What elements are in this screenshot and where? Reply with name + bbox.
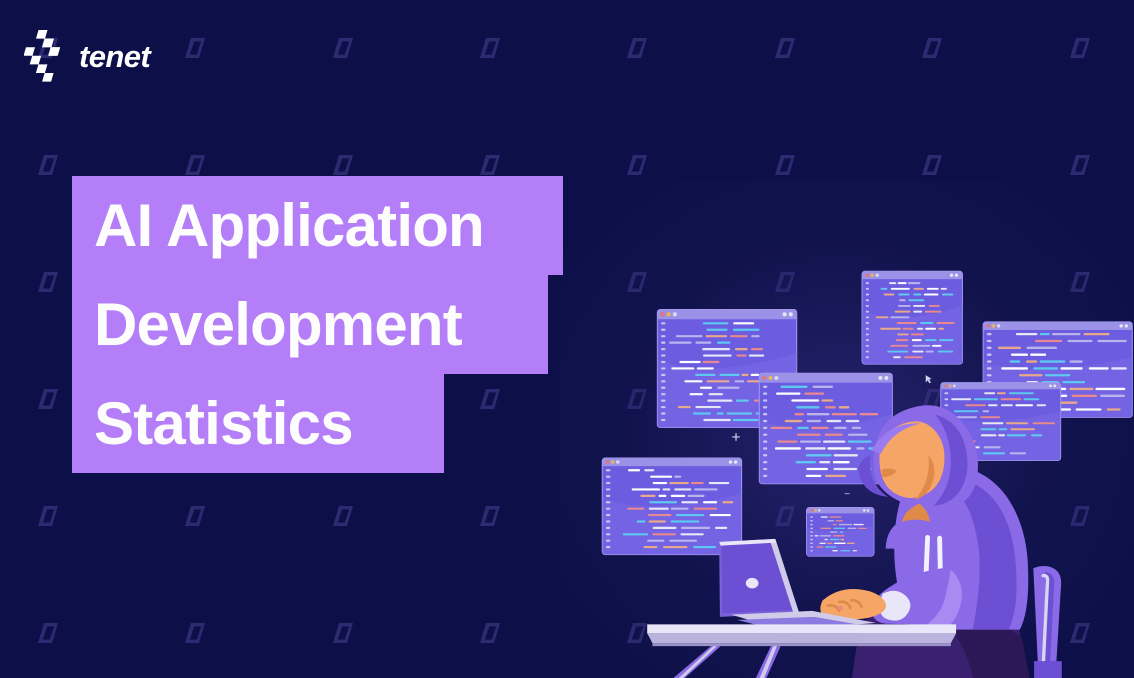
code-token <box>929 305 940 307</box>
code-token <box>1001 398 1022 400</box>
code-token <box>811 427 828 429</box>
code-token <box>825 434 843 436</box>
window-control-dot <box>768 376 772 380</box>
code-token <box>998 347 1021 349</box>
code-token <box>770 427 792 429</box>
code-token <box>684 380 702 382</box>
code-token <box>1016 333 1038 335</box>
pattern-diamond <box>38 506 58 526</box>
code-token <box>700 387 712 389</box>
window-control-dot <box>789 312 793 316</box>
code-token <box>920 322 933 324</box>
code-token <box>1052 333 1081 335</box>
code-gutter-line <box>810 520 813 521</box>
code-gutter-line <box>606 514 610 516</box>
code-token <box>671 520 700 522</box>
code-gutter-line <box>810 539 813 540</box>
window-control-dot <box>734 460 737 463</box>
pattern-diamond <box>922 155 942 175</box>
code-token <box>830 539 839 540</box>
code-token <box>1024 398 1040 400</box>
code-token <box>840 539 844 540</box>
pattern-diamond <box>480 623 500 643</box>
code-token <box>954 410 979 412</box>
window-control-dot <box>945 385 948 388</box>
window-titlebar <box>941 383 1061 390</box>
code-token <box>924 294 939 296</box>
code-gutter-line <box>810 516 813 517</box>
pattern-diamond <box>185 155 205 175</box>
window-control-dot <box>863 509 866 512</box>
code-token <box>649 508 669 510</box>
code-token <box>804 392 824 394</box>
code-gutter-line <box>763 392 767 394</box>
code-gutter-line <box>944 392 948 394</box>
code-token <box>853 524 863 525</box>
code-token <box>981 434 997 436</box>
code-token <box>898 294 909 296</box>
code-gutter-line <box>987 354 992 356</box>
code-token <box>702 348 730 350</box>
code-token <box>709 482 730 484</box>
code-token <box>834 543 846 544</box>
code-gutter-line <box>810 550 813 551</box>
code-gutter-line <box>763 461 767 463</box>
code-gutter-line <box>987 340 992 342</box>
code-token <box>807 420 822 422</box>
window-control-dot <box>884 376 888 380</box>
window-titlebar <box>602 458 741 466</box>
code-token <box>694 508 717 510</box>
code-token <box>671 495 686 497</box>
code-token <box>796 461 817 463</box>
code-token <box>927 288 939 290</box>
code-token <box>648 514 671 516</box>
code-token <box>852 427 861 429</box>
code-token <box>819 543 825 544</box>
code-token <box>733 322 754 324</box>
code-token <box>941 288 947 290</box>
code-token <box>889 282 896 284</box>
code-token <box>932 345 941 347</box>
window-titlebar <box>657 309 796 319</box>
code-token <box>819 461 830 463</box>
code-token <box>1011 354 1028 356</box>
code-token <box>780 386 807 388</box>
code-gutter-line <box>763 447 767 449</box>
code-token <box>925 351 933 353</box>
code-token <box>860 413 879 415</box>
code-token <box>846 420 860 422</box>
code-token <box>858 528 867 529</box>
window-control-dot <box>616 460 619 463</box>
code-token <box>1033 422 1055 424</box>
window-control-dot <box>783 312 787 316</box>
code-token <box>706 329 727 331</box>
code-token <box>649 520 666 522</box>
code-gutter-line <box>763 454 767 456</box>
code-token <box>1007 434 1026 436</box>
code-token <box>1111 367 1127 369</box>
code-token <box>730 335 748 337</box>
code-gutter-line <box>866 328 869 330</box>
code-token <box>836 520 843 521</box>
code-token <box>1031 434 1042 436</box>
headline-line-1: AI Application <box>72 176 563 275</box>
office-chair <box>1033 566 1061 678</box>
pattern-diamond <box>38 272 58 292</box>
code-token <box>988 404 998 406</box>
code-token <box>1006 422 1028 424</box>
code-gutter-line <box>866 294 869 296</box>
code-gutter-line <box>606 476 610 478</box>
code-token <box>706 380 729 382</box>
code-gutter-line <box>866 282 869 284</box>
code-gutter-line <box>944 404 948 406</box>
plus-marker <box>733 434 740 441</box>
code-token <box>663 546 687 548</box>
code-gutter-line <box>810 524 813 525</box>
code-token <box>1010 428 1034 430</box>
code-token <box>722 501 733 503</box>
code-gutter-line <box>606 495 610 497</box>
code-token <box>805 447 826 449</box>
code-gutter-line <box>661 348 665 350</box>
code-gutter-line <box>661 335 665 337</box>
code-token <box>938 351 954 353</box>
code-token <box>913 294 921 296</box>
code-token <box>942 294 953 296</box>
code-token <box>833 535 844 536</box>
code-token <box>902 328 913 330</box>
code-token <box>936 322 954 324</box>
code-token <box>695 374 716 376</box>
code-token <box>727 412 752 414</box>
code-token <box>1019 374 1042 376</box>
code-token <box>925 339 936 341</box>
code-token <box>826 420 841 422</box>
code-token <box>703 419 731 421</box>
code-token <box>984 392 995 394</box>
code-gutter-line <box>661 367 665 369</box>
pattern-diamond <box>775 155 795 175</box>
code-token <box>735 380 744 382</box>
code-gutter-line <box>763 413 767 415</box>
code-token <box>742 374 749 376</box>
code-token <box>914 288 924 290</box>
code-token <box>998 434 1005 436</box>
code-token <box>733 419 759 421</box>
code-token <box>736 354 746 356</box>
window-control-dot <box>955 274 958 277</box>
code-token <box>717 387 739 389</box>
code-token <box>715 527 727 529</box>
code-token <box>984 446 1001 448</box>
code-gutter-line <box>661 329 665 331</box>
code-token <box>650 476 672 478</box>
code-token <box>695 342 711 344</box>
code-token <box>643 546 657 548</box>
code-token <box>777 440 797 442</box>
code-token <box>807 413 830 415</box>
code-token <box>671 367 694 369</box>
code-token <box>887 351 908 353</box>
window-control-dot <box>867 509 870 512</box>
code-gutter-line <box>661 342 665 344</box>
code-gutter-line <box>763 399 767 401</box>
code-token <box>797 427 809 429</box>
code-token <box>709 393 723 395</box>
code-gutter-line <box>763 440 767 442</box>
code-token <box>623 533 648 535</box>
code-token <box>791 399 819 401</box>
code-gutter-line <box>987 367 992 369</box>
code-token <box>820 528 831 529</box>
code-token <box>710 514 731 516</box>
tenet-checker-mark-icon <box>24 30 68 82</box>
pattern-diamond <box>333 38 353 58</box>
code-token <box>908 282 921 284</box>
code-token <box>833 524 837 525</box>
code-token <box>830 531 838 532</box>
code-token <box>1009 392 1034 394</box>
code-token <box>796 406 819 408</box>
code-token <box>669 482 689 484</box>
code-token <box>751 374 760 376</box>
window-control-dot <box>606 460 609 463</box>
window-control-dot <box>774 376 778 380</box>
code-gutter-line <box>661 406 665 408</box>
code-token <box>680 533 703 535</box>
pattern-diamond <box>185 623 205 643</box>
code-gutter-line <box>866 356 869 358</box>
code-token <box>1040 360 1066 362</box>
code-token <box>674 476 681 478</box>
window-control-dot <box>763 376 767 380</box>
poster-canvas: tenet AI Application Development Statist… <box>0 0 1134 678</box>
code-token <box>983 452 1005 454</box>
code-gutter-line <box>866 333 869 335</box>
code-token <box>733 329 760 331</box>
pattern-diamond <box>480 38 500 58</box>
code-gutter-line <box>606 520 610 522</box>
code-token <box>1035 340 1062 342</box>
code-token <box>749 354 764 356</box>
code-token <box>898 282 907 284</box>
code-token <box>1033 367 1058 369</box>
window-control-dot <box>818 509 821 512</box>
code-gutter-line <box>606 527 610 529</box>
pattern-diamond <box>1070 155 1090 175</box>
code-token <box>659 495 667 497</box>
code-gutter-line <box>606 488 610 490</box>
code-token <box>1026 360 1037 362</box>
code-token <box>1067 340 1092 342</box>
code-token <box>825 475 846 477</box>
code-gutter-line <box>661 393 665 395</box>
code-gutter-line <box>606 469 610 471</box>
code-token <box>848 440 872 442</box>
code-token <box>912 345 930 347</box>
code-token <box>917 328 923 330</box>
code-gutter-line <box>987 360 992 362</box>
code-gutter-line <box>763 406 767 408</box>
code-token <box>1097 340 1127 342</box>
pattern-diamond <box>480 506 500 526</box>
code-gutter-line <box>763 420 767 422</box>
window-control-dot <box>661 312 665 316</box>
page-title: AI Application Development Statistics <box>72 176 563 473</box>
code-token <box>647 540 664 542</box>
code-token <box>679 361 700 363</box>
code-token <box>821 399 833 401</box>
window-control-dot <box>992 324 995 327</box>
code-gutter-line <box>763 427 767 429</box>
code-token <box>911 333 924 335</box>
code-token <box>896 339 909 341</box>
code-token <box>912 339 922 341</box>
code-token <box>1010 452 1026 454</box>
pattern-diamond <box>627 155 647 175</box>
window-control-dot <box>611 460 614 463</box>
code-token <box>653 527 677 529</box>
code-gutter-line <box>661 419 665 421</box>
window-titlebar <box>759 373 892 382</box>
code-token <box>1026 347 1057 349</box>
code-token <box>939 339 953 341</box>
code-token <box>628 469 640 471</box>
code-gutter-line <box>606 540 610 542</box>
code-token <box>823 440 845 442</box>
code-gutter-line <box>810 528 813 529</box>
code-token <box>834 454 858 456</box>
code-gutter-line <box>810 546 813 547</box>
code-token <box>644 469 654 471</box>
code-token <box>880 328 901 330</box>
code-token <box>839 524 852 525</box>
window-control-dot <box>667 312 671 316</box>
code-token <box>817 546 824 547</box>
code-token <box>800 440 821 442</box>
code-token <box>806 454 832 456</box>
pattern-diamond <box>333 155 353 175</box>
code-gutter-line <box>866 351 869 353</box>
code-token <box>1001 404 1013 406</box>
code-token <box>974 398 998 400</box>
code-token <box>1037 404 1046 406</box>
code-token <box>825 546 836 547</box>
code-token <box>1107 408 1121 410</box>
code-token <box>806 468 828 470</box>
code-token <box>925 328 936 330</box>
code-token <box>821 516 828 517</box>
brand-logo[interactable]: tenet <box>24 30 150 82</box>
code-token <box>827 447 851 449</box>
code-token <box>678 406 691 408</box>
code-token <box>856 447 864 449</box>
code-token <box>669 540 697 542</box>
code-gutter-line <box>944 398 948 400</box>
code-token <box>693 412 711 414</box>
pattern-diamond <box>185 506 205 526</box>
code-token <box>1084 333 1110 335</box>
pattern-diamond <box>38 623 58 643</box>
code-token <box>908 299 924 301</box>
code-token <box>1001 367 1028 369</box>
code-token <box>794 413 804 415</box>
code-token <box>853 550 857 551</box>
code-token <box>895 311 911 313</box>
code-token <box>827 543 833 544</box>
window-titlebar <box>983 322 1132 330</box>
code-gutter-line <box>763 468 767 470</box>
code-token <box>815 535 819 536</box>
code-gutter-line <box>661 380 665 382</box>
code-token <box>876 316 889 318</box>
window-control-dot <box>997 324 1000 327</box>
code-token <box>833 461 850 463</box>
code-token <box>840 531 844 532</box>
code-token <box>829 516 841 517</box>
code-token <box>982 422 1003 424</box>
window-control-dot <box>878 376 882 380</box>
cursor-arrow-marker <box>926 375 932 383</box>
code-token <box>695 406 720 408</box>
code-gutter-line <box>606 501 610 503</box>
code-token <box>671 508 689 510</box>
code-token <box>913 305 925 307</box>
window-control-dot <box>673 312 677 316</box>
code-token <box>1076 408 1102 410</box>
code-token <box>983 410 989 412</box>
code-gutter-line <box>661 387 665 389</box>
code-token <box>898 305 911 307</box>
code-gutter-line <box>866 305 869 307</box>
code-token <box>834 427 847 429</box>
code-token <box>840 550 850 551</box>
code-token <box>833 468 857 470</box>
code-token <box>1072 395 1098 397</box>
pattern-diamond <box>38 389 58 409</box>
code-gutter-line <box>661 361 665 363</box>
pattern-diamond <box>333 506 353 526</box>
brand-wordmark: tenet <box>79 41 150 72</box>
code-gutter-line <box>987 333 992 335</box>
window-control-dot <box>1125 324 1128 327</box>
code-gutter-line <box>810 535 813 536</box>
code-token <box>707 400 732 402</box>
code-token <box>1030 354 1046 356</box>
code-gutter-line <box>866 345 869 347</box>
code-token <box>676 514 704 516</box>
code-gutter-line <box>661 322 665 324</box>
code-token <box>702 361 719 363</box>
code-token <box>1010 360 1021 362</box>
code-gutter-line <box>763 475 767 477</box>
code-token <box>1100 395 1125 397</box>
code-gutter-line <box>606 508 610 510</box>
code-token <box>897 333 909 335</box>
code-token <box>1089 367 1109 369</box>
code-token <box>681 527 710 529</box>
code-token <box>912 351 923 353</box>
window-control-dot <box>866 274 869 277</box>
code-token <box>690 393 703 395</box>
code-gutter-line <box>810 543 813 544</box>
code-token <box>951 398 971 400</box>
code-token <box>717 342 730 344</box>
code-token <box>694 488 718 490</box>
